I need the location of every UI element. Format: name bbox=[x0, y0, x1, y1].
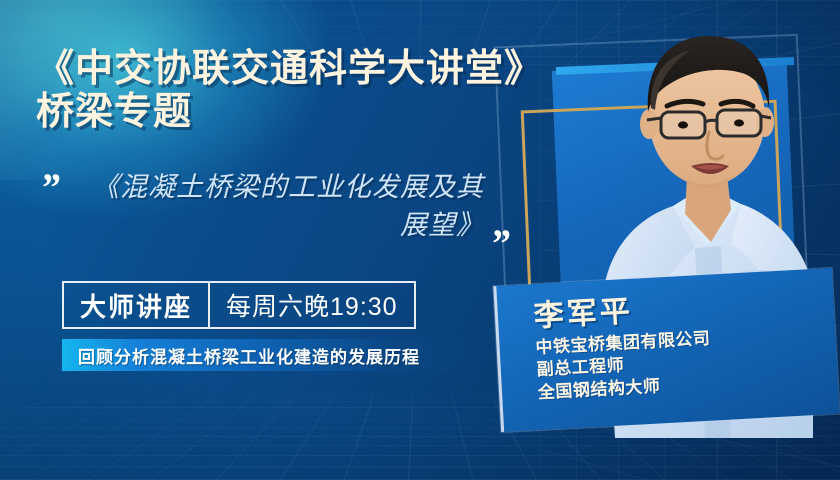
tagline-bar: 回顾分析混凝土桥梁工业化建造的发展历程 bbox=[62, 339, 482, 371]
open-quote-mark: ” bbox=[40, 168, 60, 208]
promotional-poster: 李军平 中铁宝桥集团有限公司 副总工程师 全国钢结构大师 《中交协联交通科学大讲… bbox=[0, 0, 840, 480]
page-title: 《中交协联交通科学大讲堂》 桥梁专题 bbox=[36, 48, 556, 133]
headline-line-2: 桥梁专题 bbox=[36, 91, 556, 134]
speaker-info-text: 李军平 中铁宝桥集团有限公司 副总工程师 全国钢结构大师 bbox=[496, 263, 840, 441]
tagline-text: 回顾分析混凝土桥梁工业化建造的发展历程 bbox=[62, 343, 420, 368]
headline-line-1: 《中交协联交通科学大讲堂》 bbox=[36, 48, 543, 90]
lecture-schedule: 每周六晚19:30 bbox=[210, 283, 414, 327]
lecture-info-box: 大师讲座 每周六晚19:30 bbox=[62, 281, 416, 329]
lecture-subtitle: 《混凝土桥梁的工业化发展及其展望》 bbox=[90, 168, 484, 245]
close-quote-mark: ” bbox=[490, 224, 510, 264]
subtitle-block: ” 《混凝土桥梁的工业化发展及其展望》 ” bbox=[38, 168, 538, 245]
lecture-type-label: 大师讲座 bbox=[64, 283, 208, 327]
